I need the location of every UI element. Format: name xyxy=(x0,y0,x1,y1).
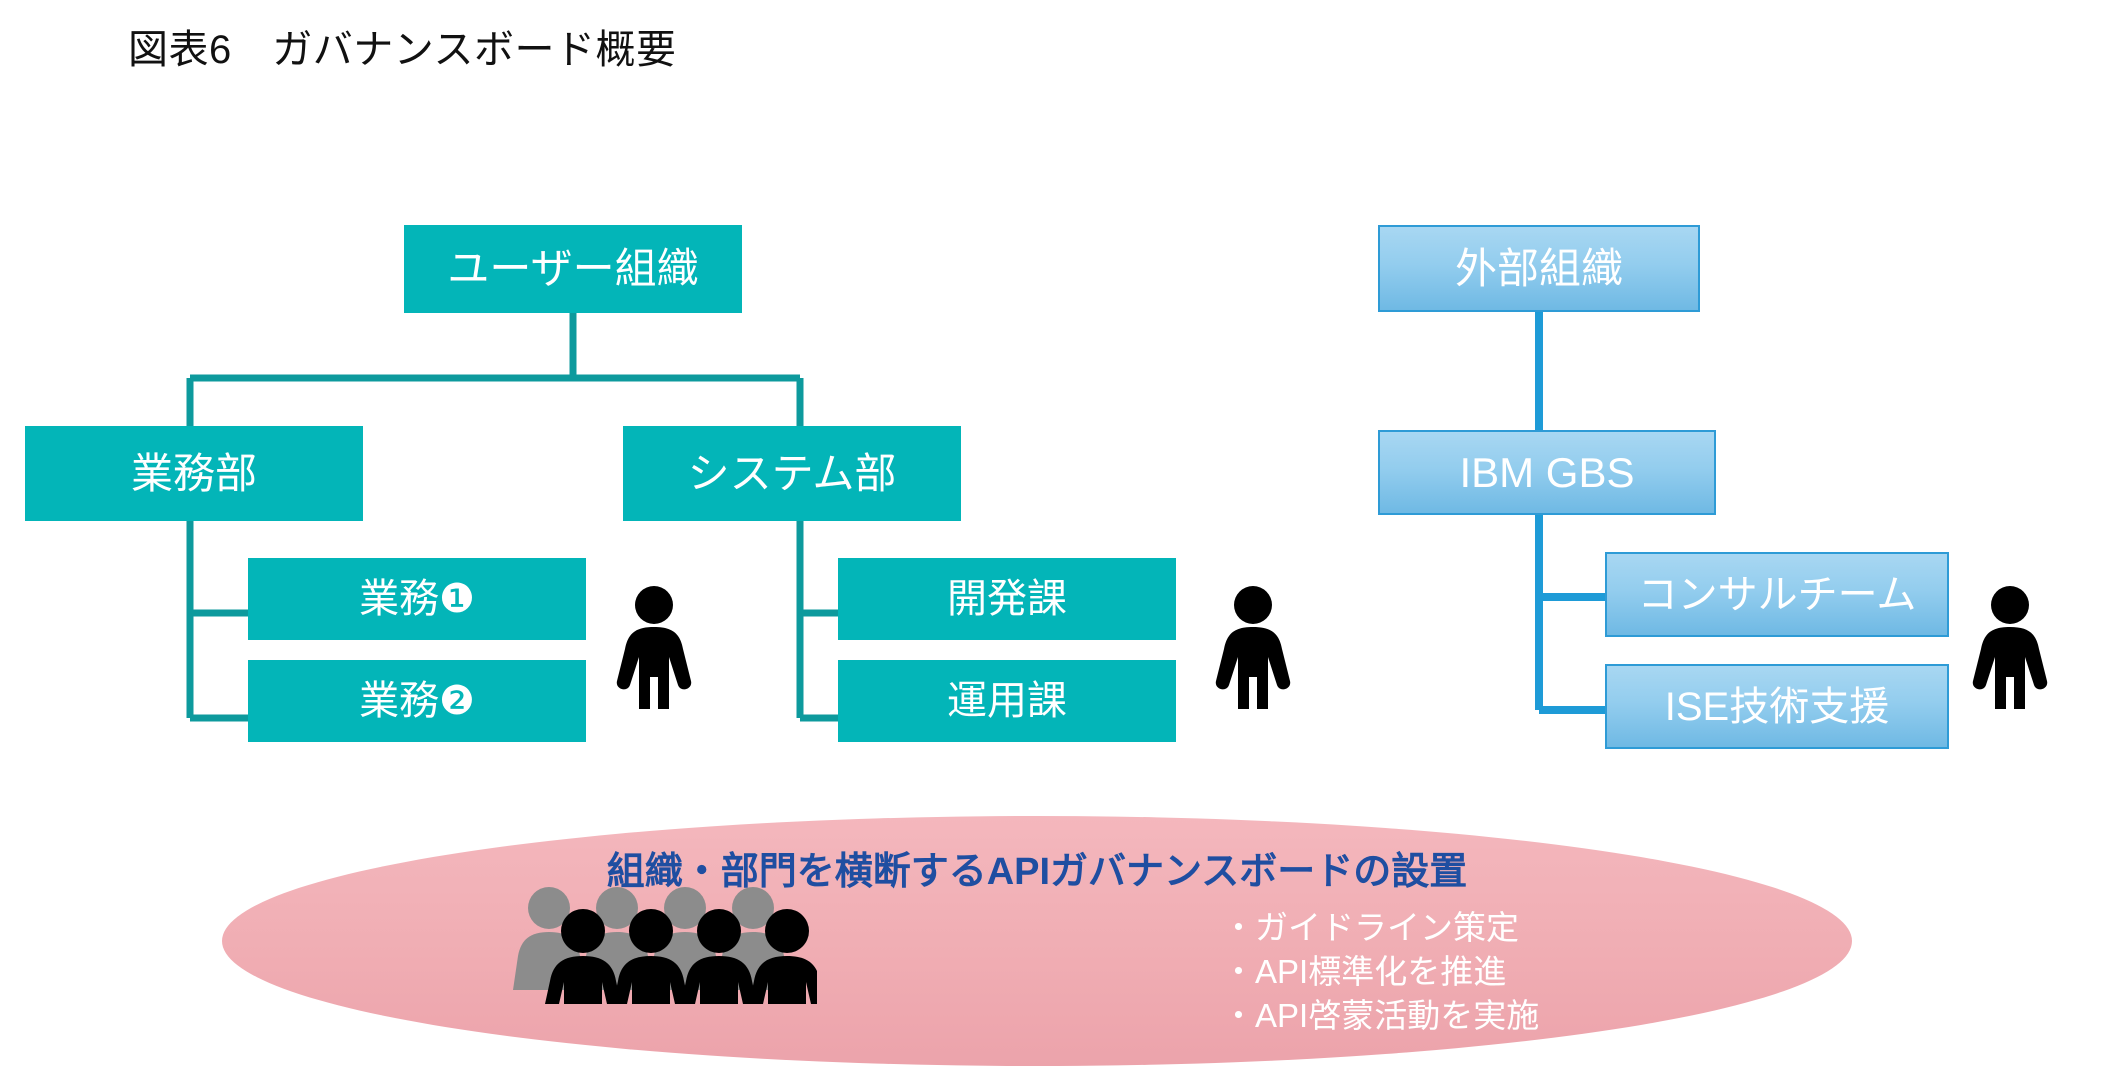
diagram-canvas: 図表6 ガバナンスボード概要 ユーザー組織 業務部 システム部 業 xyxy=(0,0,2101,1069)
node-label: 業務❶ xyxy=(359,579,475,619)
node-development-section[interactable]: 開発課 xyxy=(838,558,1176,640)
node-external-organization[interactable]: 外部組織 xyxy=(1378,225,1700,312)
node-business-2[interactable]: 業務❷ xyxy=(248,660,586,742)
page-title: 図表6 ガバナンスボード概要 xyxy=(128,26,676,74)
node-operations-section[interactable]: 運用課 xyxy=(838,660,1176,742)
banner-heading: 組織・部門を横断するAPIガバナンスボードの設置 xyxy=(222,840,1852,895)
person-icon-ibm xyxy=(1968,585,2052,716)
banner-bullet-item: ・API啓蒙活動を実施 xyxy=(1222,994,1539,1038)
node-system-department[interactable]: システム部 xyxy=(623,426,961,521)
node-label: システム部 xyxy=(688,453,897,495)
node-ise-technical-support[interactable]: ISE技術支援 xyxy=(1605,664,1949,749)
banner-bullet-item: ・API標準化を推進 xyxy=(1222,950,1539,994)
node-user-organization[interactable]: ユーザー組織 xyxy=(404,225,742,313)
governance-board-banner: 組織・部門を横断するAPIガバナンスボードの設置 xyxy=(222,816,1852,1066)
node-ibm-gbs[interactable]: IBM GBS xyxy=(1378,430,1716,515)
node-business-department[interactable]: 業務部 xyxy=(25,426,363,521)
node-label: 業務部 xyxy=(131,453,257,495)
banner-bullet-item: ・ガイドライン策定 xyxy=(1222,906,1539,950)
person-icon-gyomu xyxy=(612,585,696,716)
node-consulting-team[interactable]: コンサルチーム xyxy=(1605,552,1949,637)
banner-bullets: ・ガイドライン策定 ・API標準化を推進 ・API啓蒙活動を実施 xyxy=(1222,906,1539,1038)
node-label: 業務❷ xyxy=(359,681,475,721)
node-label: IBM GBS xyxy=(1459,452,1634,494)
node-label: 開発課 xyxy=(947,579,1067,619)
node-label: 運用課 xyxy=(947,681,1067,721)
node-business-1[interactable]: 業務❶ xyxy=(248,558,586,640)
crowd-icon xyxy=(507,886,817,1011)
node-label: 外部組織 xyxy=(1455,248,1623,290)
node-label: コンサルチーム xyxy=(1638,575,1917,615)
node-label: ユーザー組織 xyxy=(447,248,698,290)
node-label: ISE技術支援 xyxy=(1665,687,1889,727)
person-icon-system xyxy=(1211,585,1295,716)
